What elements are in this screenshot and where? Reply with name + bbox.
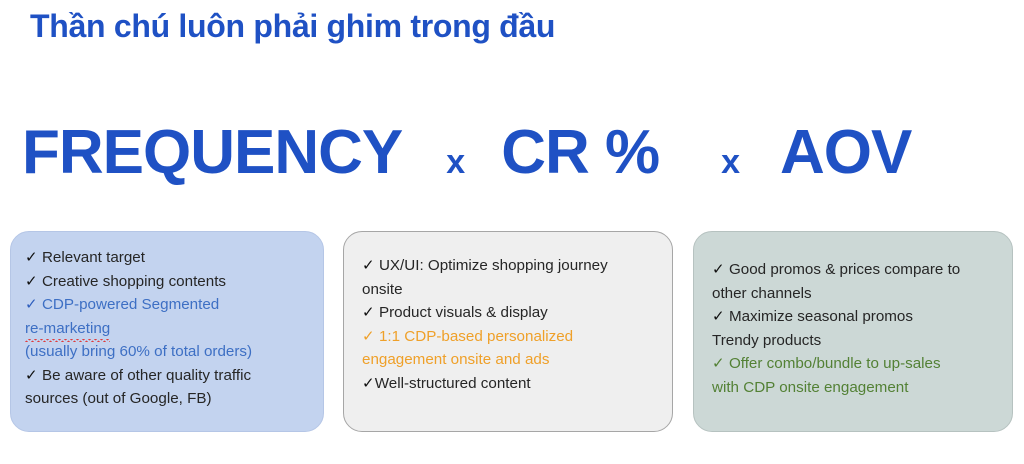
check-icon: ✓ — [25, 367, 42, 384]
card-line: ✓ UX/UI: Optimize shopping journey — [362, 254, 658, 278]
card-line-text: Be aware of other quality traffic — [42, 367, 251, 384]
formula-term-cr: CR % — [501, 118, 659, 188]
card-row: ✓ Relevant target✓ Creative shopping con… — [0, 231, 1024, 436]
card-line: onsite — [362, 278, 658, 302]
card-line: ✓ Good promos & prices compare to — [712, 258, 998, 282]
check-icon: ✓ — [362, 257, 379, 274]
card-line: engagement onsite and ads — [362, 348, 658, 372]
formula-operator-1: x — [446, 127, 465, 197]
card-line: ✓ Relevant target — [25, 246, 309, 270]
card-line-text: CDP-powered Segmented — [42, 296, 219, 313]
card-line: ✓ Offer combo/bundle to up-sales — [712, 352, 998, 376]
card-line: with CDP onsite engagement — [712, 376, 998, 400]
check-icon: ✓ — [25, 273, 42, 290]
card-line-text: 1:1 CDP-based personalized — [379, 328, 573, 345]
card-line: sources (out of Google, FB) — [25, 387, 309, 411]
formula-operator-2: x — [721, 127, 740, 197]
page-title: Thần chú luôn phải ghim trong đầu — [30, 8, 555, 45]
card-line: ✓ Creative shopping contents — [25, 270, 309, 294]
check-icon: ✓ — [362, 375, 375, 392]
card-line: Trendy products — [712, 329, 998, 353]
card-line-text: Trendy products — [712, 332, 821, 349]
card-line-text: with CDP onsite engagement — [712, 379, 908, 396]
card-line-text: onsite — [362, 281, 403, 298]
card-line-text: Good promos & prices compare to — [729, 261, 960, 278]
card-line: ✓ Maximize seasonal promos — [712, 305, 998, 329]
card-line: (usually bring 60% of total orders) — [25, 340, 309, 364]
card-line-text: Offer combo/bundle to up-sales — [729, 355, 941, 372]
card-line-text: Product visuals & display — [379, 304, 548, 321]
check-icon: ✓ — [712, 355, 729, 372]
cr-card: ✓ UX/UI: Optimize shopping journeyonsite… — [343, 231, 673, 432]
aov-card: ✓ Good promos & prices compare toother c… — [693, 231, 1013, 432]
frequency-card: ✓ Relevant target✓ Creative shopping con… — [10, 231, 324, 432]
check-icon: ✓ — [362, 328, 379, 345]
check-icon: ✓ — [25, 296, 42, 313]
card-line-text: Maximize seasonal promos — [729, 308, 913, 325]
formula-row: FREQUENCY x CR % x AOV — [22, 118, 952, 188]
check-icon: ✓ — [712, 308, 729, 325]
card-line-text: (usually bring 60% of total orders) — [25, 343, 252, 360]
card-line: ✓ Product visuals & display — [362, 301, 658, 325]
formula-term-frequency: FREQUENCY — [22, 118, 402, 188]
formula-term-aov: AOV — [780, 118, 911, 188]
check-icon: ✓ — [25, 249, 42, 266]
card-line-text: engagement onsite and ads — [362, 351, 549, 368]
spellcheck-underlined-text: re-marketing — [25, 317, 110, 341]
card-line-text: sources (out of Google, FB) — [25, 390, 212, 407]
check-icon: ✓ — [362, 304, 379, 321]
card-line-text: Creative shopping contents — [42, 273, 226, 290]
card-line: ✓ CDP-powered Segmented — [25, 293, 309, 317]
card-line-text: UX/UI: Optimize shopping journey — [379, 257, 608, 274]
card-line-text: Relevant target — [42, 249, 145, 266]
card-line: ✓Well-structured content — [362, 372, 658, 396]
card-line: re-marketing — [25, 317, 309, 341]
check-icon: ✓ — [712, 261, 729, 278]
card-line: ✓ Be aware of other quality traffic — [25, 364, 309, 388]
card-line: other channels — [712, 282, 998, 306]
card-line: ✓ 1:1 CDP-based personalized — [362, 325, 658, 349]
card-line-text: Well-structured content — [375, 375, 531, 392]
card-line-text: other channels — [712, 285, 812, 302]
